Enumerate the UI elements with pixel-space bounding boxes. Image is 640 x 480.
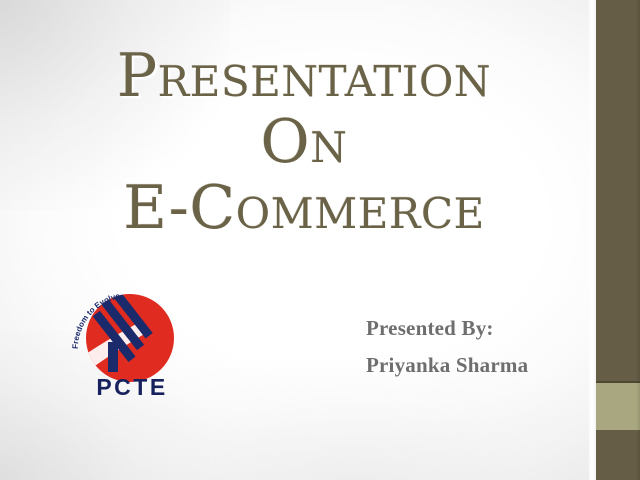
presenter-credit: Presented By: Priyanka Sharma (366, 310, 586, 384)
right-bar-accent-band (596, 383, 640, 430)
presented-by-label: Presented By: (366, 310, 586, 347)
slide-title: Presentation On E-Commerce (24, 46, 584, 238)
title-line-1: Presentation (24, 46, 584, 106)
right-bar-seam (588, 0, 596, 480)
title-line-2: On (24, 112, 584, 172)
right-edge-shadow (636, 0, 640, 480)
presentation-slide: Presentation On E-Commerce Presented By:… (0, 0, 640, 480)
logo-acronym: PCTE (62, 374, 202, 401)
logo-pillar (108, 342, 118, 372)
presenter-name: Priyanka Sharma (366, 347, 586, 384)
pcte-logo: Freedom to Evolve PCTE (62, 292, 202, 412)
title-line-3: E-Commerce (24, 178, 584, 238)
